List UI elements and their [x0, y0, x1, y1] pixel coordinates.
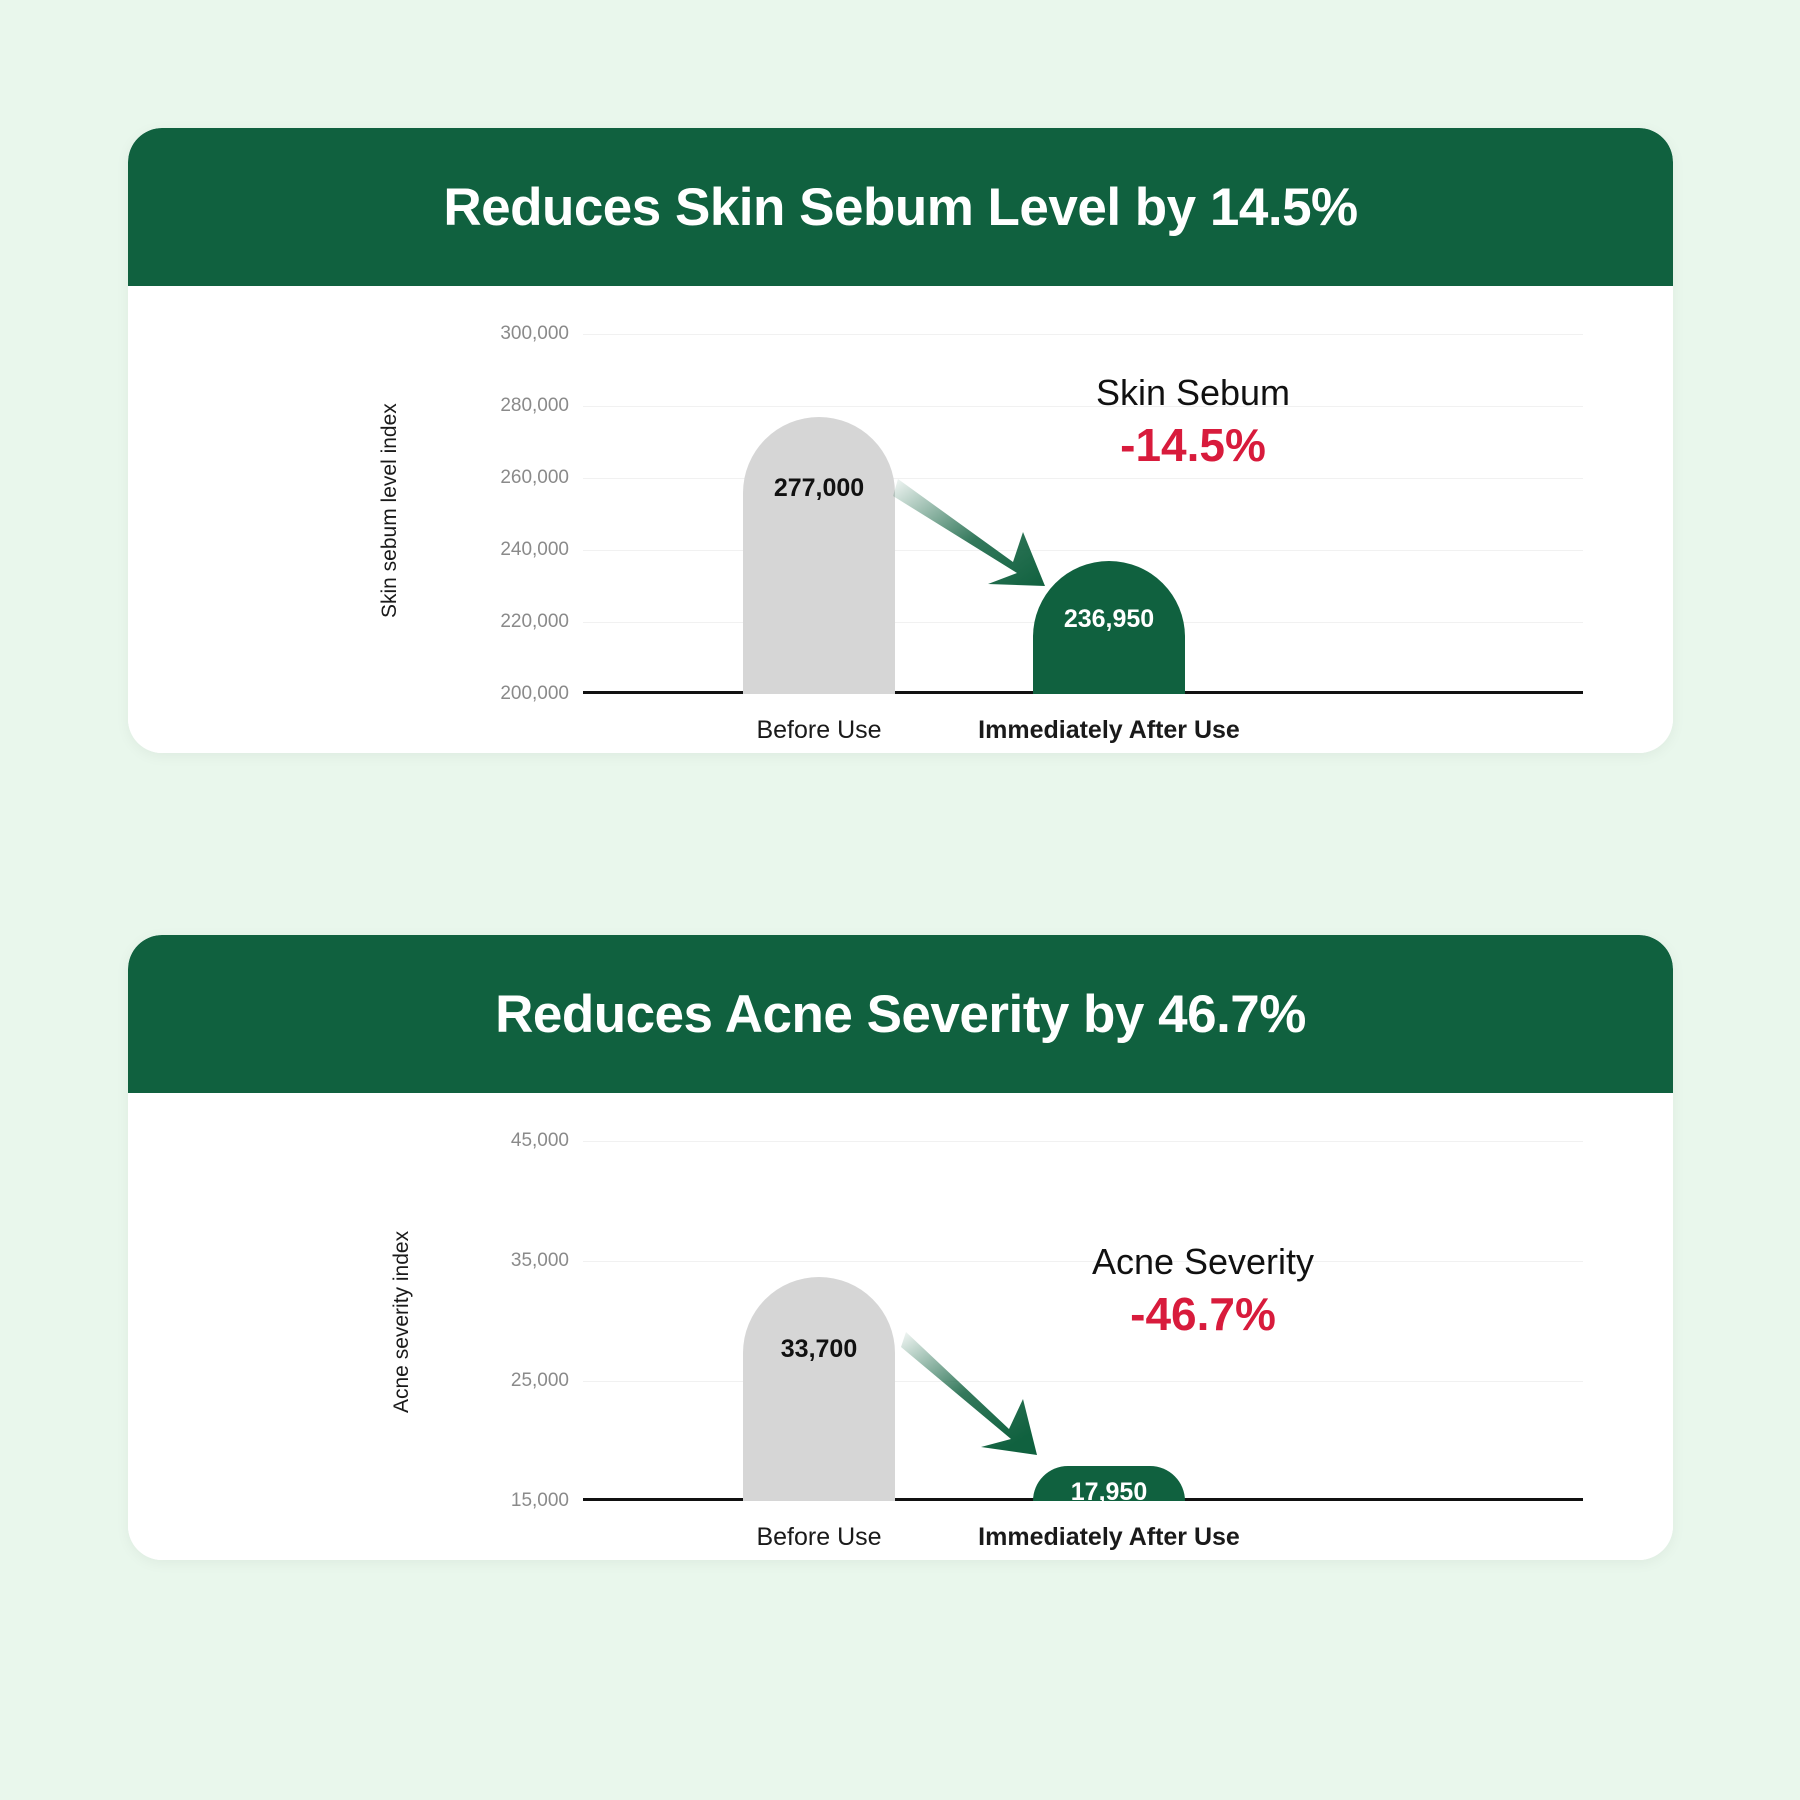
x-axis-label-after-use: Immediately After Use: [978, 1523, 1240, 1552]
bar-before-use[interactable]: 33,700: [743, 1277, 895, 1501]
gridline: [583, 1141, 1583, 1142]
gridline: [583, 478, 1583, 479]
y-axis-title: Skin sebum level index: [378, 348, 402, 618]
y-axis-tick-label: 35,000: [511, 1250, 569, 1272]
bar-value-label: 33,700: [781, 1335, 857, 1364]
y-axis-tick-label: 220,000: [500, 611, 569, 633]
x-axis-label-before-use: Before Use: [756, 1523, 881, 1552]
chart-card-skin-sebum: Reduces Skin Sebum Level by 14.5% Skin s…: [128, 128, 1673, 753]
x-axis-label-before-use: Before Use: [756, 716, 881, 745]
bar-immediately-after-use[interactable]: 17,950: [1033, 1466, 1185, 1501]
infographic-page: Reduces Skin Sebum Level by 14.5% Skin s…: [0, 0, 1800, 1800]
y-axis-tick-label: 15,000: [511, 1490, 569, 1512]
card-header-skin-sebum: Reduces Skin Sebum Level by 14.5%: [128, 128, 1673, 286]
annotation-acne-severity: Acne Severity -46.7%: [1033, 1241, 1373, 1341]
chart-area-skin-sebum: Skin sebum level index 300,000 280,000 2…: [128, 286, 1673, 753]
gridline: [583, 334, 1583, 335]
chart-card-acne-severity: Reduces Acne Severity by 46.7% Acne seve…: [128, 935, 1673, 1560]
gridline: [583, 1381, 1583, 1382]
annotation-skin-sebum: Skin Sebum -14.5%: [1033, 372, 1353, 472]
bar-value-label: 277,000: [774, 474, 864, 503]
page-title-secondary: Reduces Acne Severity by 46.7%: [495, 984, 1306, 1045]
x-axis-label-after-use: Immediately After Use: [978, 716, 1240, 745]
y-axis-tick-label: 260,000: [500, 467, 569, 489]
y-axis-tick-label: 300,000: [500, 323, 569, 345]
page-title: Reduces Skin Sebum Level by 14.5%: [443, 177, 1357, 238]
annotation-name: Acne Severity: [1033, 1241, 1373, 1283]
annotation-name: Skin Sebum: [1033, 372, 1353, 414]
bar-value-label: 236,950: [1064, 605, 1154, 634]
chart-area-acne-severity: Acne severity index 45,000 35,000 25,000…: [128, 1093, 1673, 1560]
bar-before-use[interactable]: 277,000: [743, 417, 895, 694]
bar-value-label: 17,950: [1071, 1478, 1147, 1507]
bar-immediately-after-use[interactable]: 236,950: [1033, 561, 1185, 694]
decrease-arrow-icon: [901, 1329, 1091, 1479]
gridline: [583, 550, 1583, 551]
annotation-percent: -14.5%: [1033, 418, 1353, 472]
y-axis-tick-label: 45,000: [511, 1130, 569, 1152]
y-axis-title-secondary: Acne severity index: [390, 1163, 414, 1413]
y-axis-tick-label: 240,000: [500, 539, 569, 561]
annotation-percent: -46.7%: [1033, 1287, 1373, 1341]
y-axis-tick-label: 200,000: [500, 683, 569, 705]
y-axis-tick-label: 25,000: [511, 1370, 569, 1392]
card-header-acne-severity: Reduces Acne Severity by 46.7%: [128, 935, 1673, 1093]
y-axis-tick-label: 280,000: [500, 395, 569, 417]
